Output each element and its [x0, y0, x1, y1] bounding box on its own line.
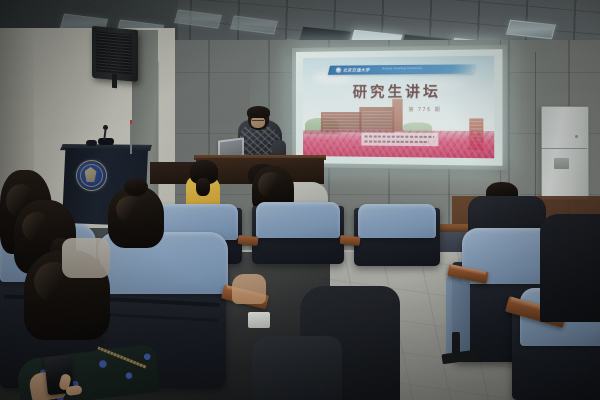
- microphone-base: [86, 140, 97, 146]
- armrest-tablet: [248, 312, 270, 328]
- slide-campus-tower: [392, 99, 402, 132]
- air-conditioner-seam: [541, 148, 587, 149]
- slide-banner-title-en: Beijing Jiaotong University: [382, 68, 423, 71]
- seat-armrest: [238, 235, 259, 246]
- slide-banner-title-cn: 北京交通大学: [343, 68, 371, 72]
- audience-person-clothing: [62, 238, 110, 278]
- slide-subtitle: 第 776 期: [388, 106, 462, 113]
- slide-title: 研究生讲坛: [303, 81, 494, 102]
- speaker-grille: [96, 31, 132, 74]
- seat-headrest[interactable]: [358, 204, 436, 238]
- air-conditioner-control-panel[interactable]: [554, 158, 569, 169]
- audience-person-body: [540, 214, 600, 322]
- presenter-hair: [247, 106, 270, 118]
- presentation-slide: 北京交通大学 Beijing Jiaotong University 研究生讲坛…: [303, 56, 494, 159]
- hair-highlight: [116, 196, 144, 222]
- slide-detail-textbox: [361, 132, 438, 146]
- audience-person-legs: [252, 336, 342, 400]
- glasses-icon: [252, 120, 264, 124]
- seat-headrest[interactable]: [256, 202, 340, 238]
- seat-pedestal: [452, 332, 460, 358]
- microphone-base: [98, 138, 114, 145]
- hair-highlight: [258, 172, 284, 198]
- mic-stand-pole: [130, 120, 132, 154]
- microphone-icon: [103, 125, 108, 130]
- lecture-hall-photo: 北京交通大学 Beijing Jiaotong University 研究生讲坛…: [0, 0, 600, 400]
- slide-detail-line-1: [364, 135, 434, 138]
- air-conditioner-indicator: [575, 135, 578, 138]
- slide-building-windows: [323, 114, 359, 130]
- audience-person-bun: [124, 178, 148, 196]
- air-conditioner-unit: [541, 106, 589, 200]
- slide-detail-line-2: [364, 140, 428, 143]
- audience-person-hand: [232, 274, 266, 304]
- speaker-bracket: [112, 74, 117, 88]
- seat-armrest: [340, 235, 361, 246]
- hair-highlight: [22, 212, 52, 242]
- audience-person-ponytail: [196, 178, 210, 196]
